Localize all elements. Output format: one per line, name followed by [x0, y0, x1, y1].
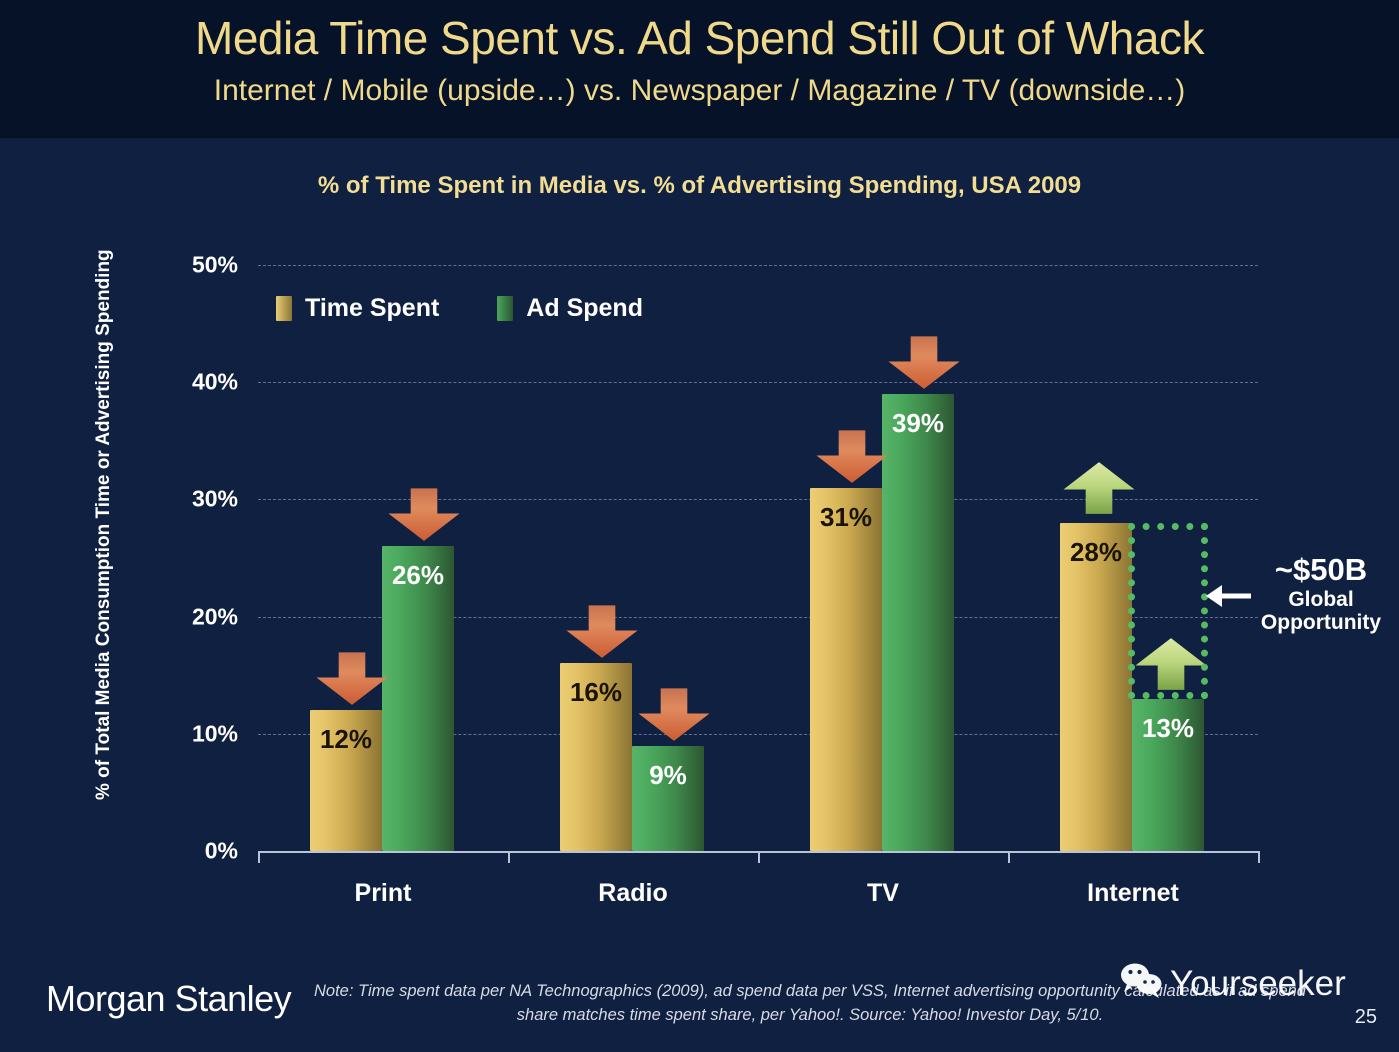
- bar-value-label: 26%: [382, 560, 454, 591]
- bar-value-label: 39%: [882, 408, 954, 439]
- wechat-icon: [1120, 962, 1164, 1005]
- logo-word-primary: Morgan: [46, 978, 165, 1019]
- x-axis-category-label: Print: [263, 879, 503, 908]
- y-axis-tick-label: 20%: [118, 603, 238, 630]
- opportunity-callout: ~$50B Global Opportunity: [1248, 553, 1394, 635]
- bar-print-ad-spend[interactable]: 26%: [382, 546, 454, 851]
- bar-radio-ad-spend[interactable]: 9%: [632, 746, 704, 851]
- bar-value-label: 9%: [632, 760, 704, 791]
- logo-word-secondary: Stanley: [175, 978, 292, 1019]
- bar-internet-ad-spend[interactable]: 13%: [1132, 699, 1204, 851]
- arrow-down-icon: [887, 336, 961, 390]
- page-number: 25: [1355, 1006, 1377, 1029]
- x-axis-tick: [1258, 851, 1260, 863]
- legend: Time Spent Ad Spend: [276, 294, 643, 323]
- x-axis-tick: [258, 851, 260, 863]
- x-axis-tick: [1008, 851, 1010, 863]
- arrow-up-icon: [1062, 461, 1136, 515]
- bar-tv-ad-spend[interactable]: 39%: [882, 394, 954, 851]
- arrow-down-icon: [315, 652, 389, 706]
- opportunity-box: [1128, 523, 1208, 699]
- gridline: [258, 382, 1258, 383]
- bar-value-label: 31%: [810, 502, 882, 533]
- page-title: Media Time Spent vs. Ad Spend Still Out …: [0, 14, 1399, 64]
- watermark: Yourseeker: [1120, 962, 1346, 1005]
- legend-swatch-icon: [276, 296, 292, 321]
- x-axis-tick: [758, 851, 760, 863]
- bar-value-label: 28%: [1060, 537, 1132, 568]
- y-axis-tick-label: 10%: [118, 720, 238, 747]
- slide: Media Time Spent vs. Ad Spend Still Out …: [0, 0, 1399, 1052]
- x-axis-category-label: TV: [763, 879, 1003, 908]
- y-axis-tick-label: 40%: [118, 369, 238, 396]
- arrow-down-icon: [815, 430, 889, 484]
- y-axis-tick-label: 30%: [118, 486, 238, 513]
- morgan-stanley-logo: Morgan Stanley: [46, 978, 291, 1020]
- legend-label: Time Spent: [305, 294, 439, 323]
- x-axis-tick: [508, 851, 510, 863]
- bar-tv-time-spent[interactable]: 31%: [810, 488, 882, 851]
- arrow-down-icon: [637, 688, 711, 742]
- bar-value-label: 13%: [1132, 713, 1204, 744]
- legend-swatch-icon: [497, 296, 513, 321]
- bar-value-label: 12%: [310, 724, 382, 755]
- watermark-text: Yourseeker: [1170, 964, 1346, 1004]
- legend-item-ad-spend: Ad Spend: [497, 294, 643, 323]
- bar-internet-time-spent[interactable]: 28%: [1060, 523, 1132, 851]
- plot-area: 12%26%16%9%31%39%28%13%: [258, 265, 1258, 851]
- arrow-left-icon: [1205, 583, 1251, 614]
- x-axis-category-label: Radio: [513, 879, 753, 908]
- legend-label: Ad Spend: [526, 294, 643, 323]
- opportunity-line3: Opportunity: [1248, 611, 1394, 635]
- opportunity-line2: Global: [1248, 588, 1394, 612]
- chart-title: % of Time Spent in Media vs. % of Advert…: [0, 172, 1399, 200]
- legend-item-time-spent: Time Spent: [276, 294, 439, 323]
- y-axis-tick-label: 0%: [118, 838, 238, 865]
- arrow-down-icon: [565, 605, 639, 659]
- x-axis-category-label: Internet: [1013, 879, 1253, 908]
- opportunity-amount: ~$50B: [1248, 553, 1394, 588]
- arrow-down-icon: [387, 488, 461, 542]
- y-axis-tick-label: 50%: [118, 252, 238, 279]
- bar-value-label: 16%: [560, 677, 632, 708]
- page-subtitle: Internet / Mobile (upside…) vs. Newspape…: [0, 74, 1399, 107]
- bar-radio-time-spent[interactable]: 16%: [560, 663, 632, 851]
- gridline: [258, 265, 1258, 266]
- bar-print-time-spent[interactable]: 12%: [310, 710, 382, 851]
- y-axis-title-text: % of Total Media Consumption Time or Adv…: [90, 330, 118, 800]
